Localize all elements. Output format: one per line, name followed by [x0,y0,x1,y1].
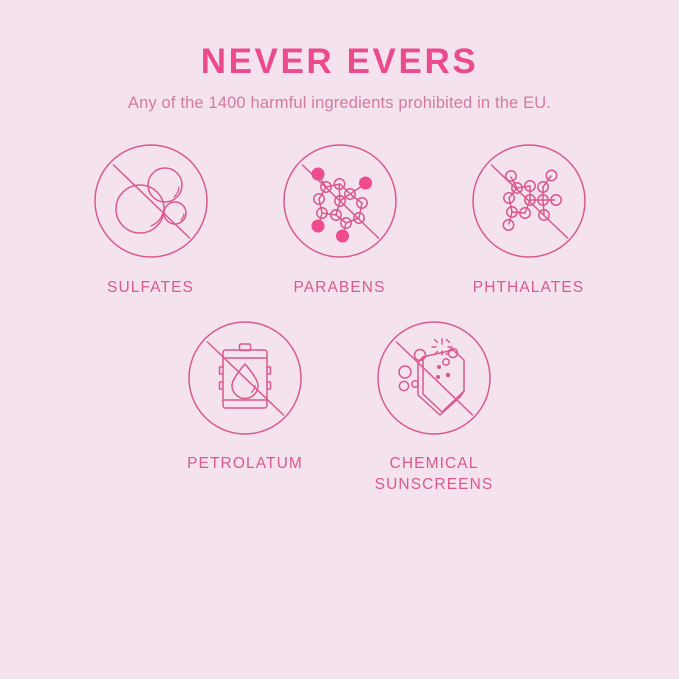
ingredient-label: PETROLATUM [187,454,303,474]
ingredient-item-parabens: PARABENS [282,143,398,298]
ingredient-item-sulfates: SULFATES [93,143,209,298]
ingredient-item-chemical-sunscreens: CHEMICAL SUNSCREENS [376,320,492,495]
no-phthalates-molecule-icon [471,143,587,259]
page-title: NEVER EVERS [0,44,679,81]
no-petrolatum-barrel-icon [187,320,303,436]
no-chemical-sunscreens-shield-icon [376,320,492,436]
never-evers-infographic: NEVER EVERS Any of the 1400 harmful ingr… [0,0,679,679]
ingredient-row-1: SULFATES [0,143,679,298]
ingredient-label: SULFATES [107,278,194,298]
page-subtitle: Any of the 1400 harmful ingredients proh… [0,94,679,113]
ingredient-label: PHTHALATES [473,278,585,298]
no-sulfates-bubbles-icon [93,143,209,259]
ingredient-label: CHEMICAL SUNSCREENS [375,454,494,495]
ingredient-label: PARABENS [293,278,385,298]
ingredient-grid: SULFATES [0,143,679,495]
ingredient-item-petrolatum: PETROLATUM [187,320,303,495]
header: NEVER EVERS Any of the 1400 harmful ingr… [0,0,679,113]
no-parabens-molecule-icon [282,143,398,259]
ingredient-row-2: PETROLATUM [0,320,679,495]
ingredient-item-phthalates: PHTHALATES [471,143,587,298]
